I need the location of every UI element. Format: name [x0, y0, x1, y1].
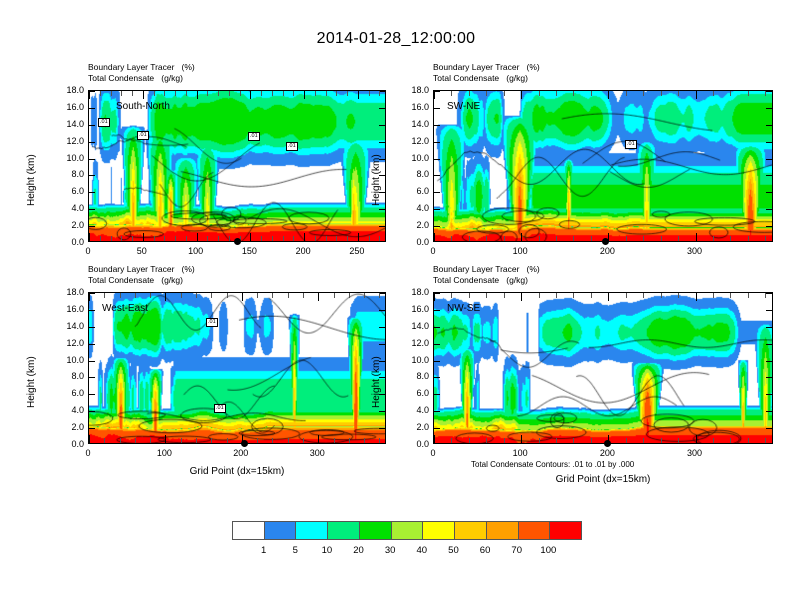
x-tick-minor	[451, 438, 452, 443]
x-tick-major	[89, 233, 90, 241]
y-tick	[766, 361, 772, 362]
y-tick	[766, 108, 772, 109]
x-tick-minor	[573, 438, 574, 443]
y-tick	[89, 192, 95, 193]
x-tick-minor	[336, 91, 337, 96]
colorbar-cell[interactable]	[455, 522, 487, 539]
y-tick-label: 2.0	[71, 422, 84, 432]
y-tick	[434, 411, 440, 412]
y-tick	[434, 428, 440, 429]
y-tick	[379, 226, 385, 227]
x-tick-major	[696, 435, 697, 443]
x-tick-major	[197, 91, 198, 99]
y-axis-title-west-east: Height (km)	[26, 356, 37, 408]
x-tick-minor	[207, 91, 208, 96]
header-condensate-line: Total Condensate (g/kg)	[433, 275, 540, 286]
y-tick	[89, 310, 95, 311]
x-tick-major	[304, 91, 305, 99]
y-tick-label: 12.0	[66, 136, 84, 146]
y-tick-label: 6.0	[416, 186, 429, 196]
x-tick-label: 300	[687, 448, 702, 458]
y-tick-label: 14.0	[411, 119, 429, 129]
y-tick-label: 10.0	[66, 153, 84, 163]
x-tick-minor	[347, 236, 348, 241]
x-tick-label: 0	[430, 448, 435, 458]
y-tick	[89, 226, 95, 227]
x-tick-minor	[218, 236, 219, 241]
x-tick-minor	[379, 293, 380, 298]
x-tick-minor	[120, 438, 121, 443]
contour-label: .01	[137, 131, 149, 140]
x-tick-minor	[591, 236, 592, 241]
y-tick-label: 12.0	[411, 136, 429, 146]
x-tick-major	[143, 91, 144, 99]
y-tick	[89, 175, 95, 176]
x-axis-labels-south-north: 050100150200250	[88, 246, 386, 260]
x-tick-minor	[349, 438, 350, 443]
panel-header-west-east: Boundary Layer Tracer (%) Total Condensa…	[88, 264, 195, 286]
x-tick-minor	[121, 236, 122, 241]
colorbar-cell[interactable]	[487, 522, 519, 539]
colorbar-cell[interactable]	[550, 522, 581, 539]
colorbar-label: 1	[261, 545, 266, 556]
y-tick-label: 18.0	[411, 85, 429, 95]
colorbar-label: 60	[480, 545, 491, 556]
x-tick-minor	[347, 91, 348, 96]
y-tick	[766, 428, 772, 429]
y-tick	[89, 377, 95, 378]
x-tick-minor	[678, 293, 679, 298]
x-tick-major	[250, 233, 251, 241]
x-tick-major	[143, 233, 144, 241]
y-tick	[89, 327, 95, 328]
plot-area-south-north[interactable]: South-North .01 .01 .01 .01 0.02.04.06.0…	[88, 90, 386, 242]
x-tick-minor	[186, 236, 187, 241]
x-tick-major	[304, 233, 305, 241]
x-tick-minor	[469, 438, 470, 443]
y-tick	[766, 394, 772, 395]
x-tick-minor	[334, 293, 335, 298]
y-tick-label: 18.0	[66, 85, 84, 95]
y-tick-label: 2.0	[416, 220, 429, 230]
x-tick-label: 250	[349, 246, 364, 256]
x-tick-major	[434, 293, 435, 301]
x-tick-minor	[272, 91, 273, 96]
x-axis-title-west-east: Grid Point (dx=15km)	[88, 466, 386, 477]
y-axis-labels-sw-ne: 0.02.04.06.08.010.012.014.016.018.0	[391, 90, 429, 242]
x-tick-minor	[261, 236, 262, 241]
x-tick-minor	[283, 91, 284, 96]
x-tick-minor	[164, 91, 165, 96]
x-tick-minor	[150, 438, 151, 443]
x-tick-minor	[336, 236, 337, 241]
y-tick	[379, 125, 385, 126]
y-tick-label: 8.0	[416, 371, 429, 381]
x-tick-minor	[713, 438, 714, 443]
y-tick-label: 6.0	[71, 388, 84, 398]
plot-canvas-south-north	[89, 91, 385, 241]
y-tick	[766, 310, 772, 311]
x-tick-minor	[765, 91, 766, 96]
colorbar-cell[interactable]	[328, 522, 360, 539]
x-tick-minor	[154, 236, 155, 241]
x-tick-minor	[257, 293, 258, 298]
y-tick	[89, 209, 95, 210]
y-tick	[89, 142, 95, 143]
x-tick-major	[318, 293, 319, 301]
y-tick	[434, 310, 440, 311]
x-tick-minor	[504, 293, 505, 298]
colorbar-cell[interactable]	[233, 522, 265, 539]
y-tick	[766, 344, 772, 345]
colorbar-legend[interactable]: 1510203040506070100	[232, 521, 582, 559]
x-tick-minor	[227, 293, 228, 298]
colorbar-cell[interactable]	[519, 522, 551, 539]
y-tick	[434, 209, 440, 210]
x-tick-minor	[661, 91, 662, 96]
colorbar-label: 40	[417, 545, 428, 556]
y-tick-label: 0.0	[416, 439, 429, 449]
x-tick-minor	[379, 236, 380, 241]
x-tick-minor	[272, 236, 273, 241]
x-tick-major	[197, 233, 198, 241]
colorbar-label: 20	[353, 545, 364, 556]
y-tick-label: 6.0	[71, 186, 84, 196]
y-tick-label: 14.0	[411, 321, 429, 331]
colorbar-cell[interactable]	[296, 522, 328, 539]
plot-canvas-west-east	[89, 293, 385, 443]
x-tick-minor	[591, 91, 592, 96]
x-tick-minor	[486, 91, 487, 96]
header-tracer-line: Boundary Layer Tracer (%)	[433, 62, 540, 73]
x-tick-label: 50	[137, 246, 147, 256]
contour-label: .01	[214, 404, 226, 413]
x-tick-minor	[207, 236, 208, 241]
y-tick-label: 14.0	[66, 119, 84, 129]
x-tick-minor	[539, 91, 540, 96]
x-tick-minor	[626, 91, 627, 96]
y-tick-label: 16.0	[411, 304, 429, 314]
x-tick-minor	[539, 438, 540, 443]
y-tick-label: 6.0	[416, 388, 429, 398]
y-tick-label: 8.0	[71, 169, 84, 179]
panel-label-south-north: South-North	[116, 101, 170, 112]
panel-header-sw-ne: Boundary Layer Tracer (%) Total Condensa…	[433, 62, 540, 84]
panel-label-sw-ne: SW-NE	[447, 101, 480, 112]
y-tick	[766, 293, 772, 294]
x-tick-minor	[678, 236, 679, 241]
y-tick-label: 0.0	[71, 237, 84, 247]
y-tick-label: 10.0	[66, 355, 84, 365]
x-tick-minor	[748, 91, 749, 96]
y-tick-label: 0.0	[416, 237, 429, 247]
x-tick-minor	[283, 236, 284, 241]
x-tick-minor	[369, 91, 370, 96]
y-tick-label: 4.0	[71, 203, 84, 213]
x-tick-label: 200	[600, 246, 615, 256]
x-tick-minor	[288, 293, 289, 298]
colorbar-cell[interactable]	[423, 522, 455, 539]
y-tick	[89, 344, 95, 345]
y-tick	[766, 377, 772, 378]
figure-title: 2014-01-28_12:00:00	[0, 30, 792, 48]
x-tick-minor	[713, 91, 714, 96]
y-tick	[434, 159, 440, 160]
x-tick-minor	[111, 236, 112, 241]
x-tick-minor	[730, 293, 731, 298]
y-tick-label: 0.0	[71, 439, 84, 449]
x-tick-major	[521, 293, 522, 301]
x-tick-minor	[132, 236, 133, 241]
x-tick-major	[165, 293, 166, 301]
y-tick	[434, 344, 440, 345]
x-tick-minor	[369, 236, 370, 241]
header-tracer-line: Boundary Layer Tracer (%)	[433, 264, 540, 275]
x-tick-major	[521, 233, 522, 241]
y-axis-title-south-north: Height (km)	[26, 154, 37, 206]
y-tick-label: 18.0	[411, 287, 429, 297]
x-tick-minor	[227, 438, 228, 443]
y-tick	[89, 159, 95, 160]
y-tick	[89, 411, 95, 412]
x-tick-minor	[643, 91, 644, 96]
x-tick-minor	[504, 236, 505, 241]
x-tick-minor	[257, 438, 258, 443]
x-tick-minor	[379, 438, 380, 443]
x-tick-minor	[591, 438, 592, 443]
colorbar-cell[interactable]	[265, 522, 297, 539]
colorbar-label: 50	[448, 545, 459, 556]
x-tick-minor	[539, 236, 540, 241]
x-tick-minor	[748, 438, 749, 443]
x-tick-minor	[643, 236, 644, 241]
x-tick-minor	[469, 293, 470, 298]
x-tick-minor	[504, 438, 505, 443]
x-tick-minor	[556, 438, 557, 443]
x-tick-minor	[573, 91, 574, 96]
x-tick-minor	[349, 293, 350, 298]
x-tick-major	[242, 293, 243, 301]
x-tick-minor	[229, 91, 230, 96]
y-tick-label: 14.0	[66, 321, 84, 331]
colorbar-label: 100	[540, 545, 556, 556]
x-tick-minor	[573, 293, 574, 298]
x-tick-minor	[303, 293, 304, 298]
y-tick	[89, 428, 95, 429]
x-tick-minor	[730, 236, 731, 241]
x-tick-minor	[104, 438, 105, 443]
x-tick-minor	[379, 91, 380, 96]
x-tick-minor	[100, 236, 101, 241]
x-tick-major	[250, 91, 251, 99]
y-tick	[434, 175, 440, 176]
x-tick-minor	[730, 91, 731, 96]
x-tick-major	[608, 293, 609, 301]
x-tick-minor	[196, 293, 197, 298]
x-tick-minor	[661, 438, 662, 443]
header-tracer-line: Boundary Layer Tracer (%)	[88, 264, 195, 275]
x-tick-minor	[591, 293, 592, 298]
x-tick-minor	[150, 293, 151, 298]
x-tick-minor	[315, 236, 316, 241]
x-tick-minor	[469, 91, 470, 96]
colorbar-label: 30	[385, 545, 396, 556]
contour-label: .01	[625, 140, 637, 149]
colorbar-label: 5	[293, 545, 298, 556]
x-tick-minor	[293, 91, 294, 96]
plot-frame-sw-ne	[433, 90, 773, 242]
y-tick	[379, 344, 385, 345]
x-tick-label: 300	[310, 448, 325, 458]
x-tick-major	[165, 435, 166, 443]
contour-note: Total Condensate Contours: .01 to .01 by…	[471, 460, 634, 469]
colorbar-label: 10	[322, 545, 333, 556]
y-tick	[434, 226, 440, 227]
panel-header-south-north: Boundary Layer Tracer (%) Total Condensa…	[88, 62, 195, 84]
x-tick-minor	[556, 236, 557, 241]
x-tick-major	[696, 233, 697, 241]
contour-label: .01	[206, 318, 218, 327]
x-tick-minor	[713, 236, 714, 241]
x-tick-major	[89, 435, 90, 443]
x-tick-label: 100	[157, 448, 172, 458]
x-tick-minor	[765, 293, 766, 298]
colorbar-cells[interactable]	[232, 521, 582, 540]
x-tick-minor	[748, 236, 749, 241]
y-tick	[379, 310, 385, 311]
x-tick-minor	[765, 438, 766, 443]
x-tick-major	[521, 435, 522, 443]
x-tick-minor	[326, 91, 327, 96]
y-tick	[379, 411, 385, 412]
x-tick-minor	[556, 91, 557, 96]
y-tick-label: 8.0	[416, 169, 429, 179]
y-tick-label: 12.0	[411, 338, 429, 348]
x-tick-label: 150	[242, 246, 257, 256]
x-tick-minor	[240, 91, 241, 96]
plot-area-west-east[interactable]: West-East .01 .01 0.02.04.06.08.010.012.…	[88, 292, 386, 444]
y-tick	[434, 142, 440, 143]
y-tick	[766, 192, 772, 193]
x-tick-minor	[120, 293, 121, 298]
y-tick	[766, 411, 772, 412]
plot-frame-south-north	[88, 90, 386, 242]
plot-canvas-nw-se	[434, 293, 772, 443]
x-tick-minor	[211, 293, 212, 298]
y-tick	[766, 209, 772, 210]
y-tick	[379, 209, 385, 210]
x-tick-minor	[678, 438, 679, 443]
panel-header-nw-se: Boundary Layer Tracer (%) Total Condensa…	[433, 264, 540, 286]
x-tick-minor	[539, 293, 540, 298]
x-tick-label: 100	[513, 246, 528, 256]
x-tick-minor	[661, 293, 662, 298]
x-tick-minor	[626, 293, 627, 298]
x-tick-minor	[229, 236, 230, 241]
x-tick-minor	[364, 438, 365, 443]
y-tick	[89, 394, 95, 395]
x-tick-minor	[121, 91, 122, 96]
x-tick-minor	[713, 293, 714, 298]
x-tick-major	[696, 293, 697, 301]
y-tick	[766, 226, 772, 227]
x-tick-minor	[186, 91, 187, 96]
y-tick-label: 16.0	[66, 102, 84, 112]
contour-label: .01	[286, 142, 298, 151]
colorbar-cell[interactable]	[360, 522, 392, 539]
panel-label-west-east: West-East	[102, 303, 148, 314]
plot-area-sw-ne[interactable]: SW-NE .01 0.02.04.06.08.010.012.014.016.…	[433, 90, 773, 242]
x-tick-major	[696, 91, 697, 99]
y-tick	[434, 125, 440, 126]
x-tick-minor	[451, 91, 452, 96]
x-tick-label: 100	[188, 246, 203, 256]
plot-area-nw-se[interactable]: NW-SE 0.02.04.06.08.010.012.014.016.018.…	[433, 292, 773, 444]
location-marker-west-east	[241, 440, 248, 447]
x-tick-minor	[164, 236, 165, 241]
y-tick	[379, 142, 385, 143]
y-tick	[434, 192, 440, 193]
y-tick	[434, 377, 440, 378]
x-axis-labels-sw-ne: 0100200300	[433, 246, 773, 260]
x-tick-major	[608, 91, 609, 99]
header-condensate-line: Total Condensate (g/kg)	[88, 275, 195, 286]
x-tick-minor	[175, 91, 176, 96]
y-tick	[434, 327, 440, 328]
y-tick-label: 2.0	[416, 422, 429, 432]
x-tick-minor	[218, 91, 219, 96]
x-tick-minor	[100, 91, 101, 96]
contour-label: .01	[98, 118, 110, 127]
x-tick-minor	[626, 236, 627, 241]
x-tick-minor	[181, 438, 182, 443]
x-tick-label: 300	[687, 246, 702, 256]
y-tick-label: 12.0	[66, 338, 84, 348]
x-tick-minor	[326, 236, 327, 241]
x-tick-minor	[111, 91, 112, 96]
x-tick-minor	[486, 293, 487, 298]
x-tick-minor	[211, 438, 212, 443]
x-tick-minor	[135, 438, 136, 443]
y-tick	[766, 159, 772, 160]
x-tick-label: 200	[296, 246, 311, 256]
y-tick-label: 4.0	[416, 405, 429, 415]
x-tick-minor	[504, 91, 505, 96]
x-tick-minor	[272, 293, 273, 298]
x-tick-major	[434, 435, 435, 443]
y-tick-label: 10.0	[411, 355, 429, 365]
y-axis-title-nw-se: Height (km)	[371, 356, 382, 408]
x-tick-minor	[154, 91, 155, 96]
x-tick-minor	[451, 236, 452, 241]
x-tick-minor	[196, 438, 197, 443]
y-tick-label: 18.0	[66, 287, 84, 297]
x-tick-minor	[661, 236, 662, 241]
x-tick-minor	[261, 91, 262, 96]
colorbar-cell[interactable]	[392, 522, 424, 539]
x-tick-minor	[626, 438, 627, 443]
x-axis-labels-west-east: 0100200300	[88, 448, 386, 462]
y-tick	[379, 327, 385, 328]
x-tick-label: 100	[513, 448, 528, 458]
header-condensate-line: Total Condensate (g/kg)	[433, 73, 540, 84]
y-tick-label: 16.0	[411, 102, 429, 112]
x-tick-minor	[486, 438, 487, 443]
y-tick	[766, 175, 772, 176]
y-tick	[434, 361, 440, 362]
y-tick	[379, 108, 385, 109]
x-tick-major	[434, 233, 435, 241]
